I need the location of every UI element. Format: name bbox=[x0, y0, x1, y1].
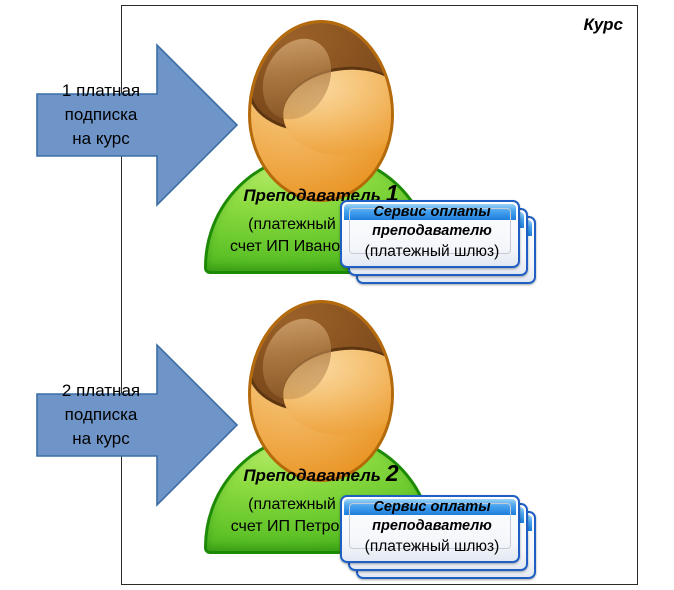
teacher-2-number: 2 bbox=[381, 460, 399, 486]
teacher-head-icon bbox=[248, 20, 394, 202]
card-2-title-line-1: Сервис оплаты bbox=[342, 498, 522, 516]
payment-service-card-front-1[interactable]: Сервис оплаты преподавателю (платежный ш… bbox=[340, 200, 520, 268]
payment-service-stack-2[interactable]: Сервис оплаты преподавателю (платежный ш… bbox=[340, 495, 545, 587]
card-1-title-line-2: преподавателю bbox=[342, 222, 522, 240]
teacher-2-name: Преподаватель2 bbox=[196, 460, 446, 487]
card-1-subtitle: (платежный шлюз) bbox=[342, 242, 522, 262]
card-2-subtitle: (платежный шлюз) bbox=[342, 537, 522, 557]
card-1-title-line-1: Сервис оплаты bbox=[342, 203, 522, 221]
payment-service-card-1-text: Сервис оплаты преподавателю (платежный ш… bbox=[342, 203, 522, 261]
course-title: Курс bbox=[583, 15, 623, 35]
teacher-2-role: Преподаватель bbox=[243, 466, 381, 485]
teacher-head-icon bbox=[248, 300, 394, 482]
card-2-title-line-2: преподавателю bbox=[342, 517, 522, 535]
payment-service-card-2-text: Сервис оплаты преподавателю (платежный ш… bbox=[342, 498, 522, 556]
payment-service-card-front-2[interactable]: Сервис оплаты преподавателю (платежный ш… bbox=[340, 495, 520, 563]
payment-service-stack-1[interactable]: Сервис оплаты преподавателю (платежный ш… bbox=[340, 200, 545, 292]
